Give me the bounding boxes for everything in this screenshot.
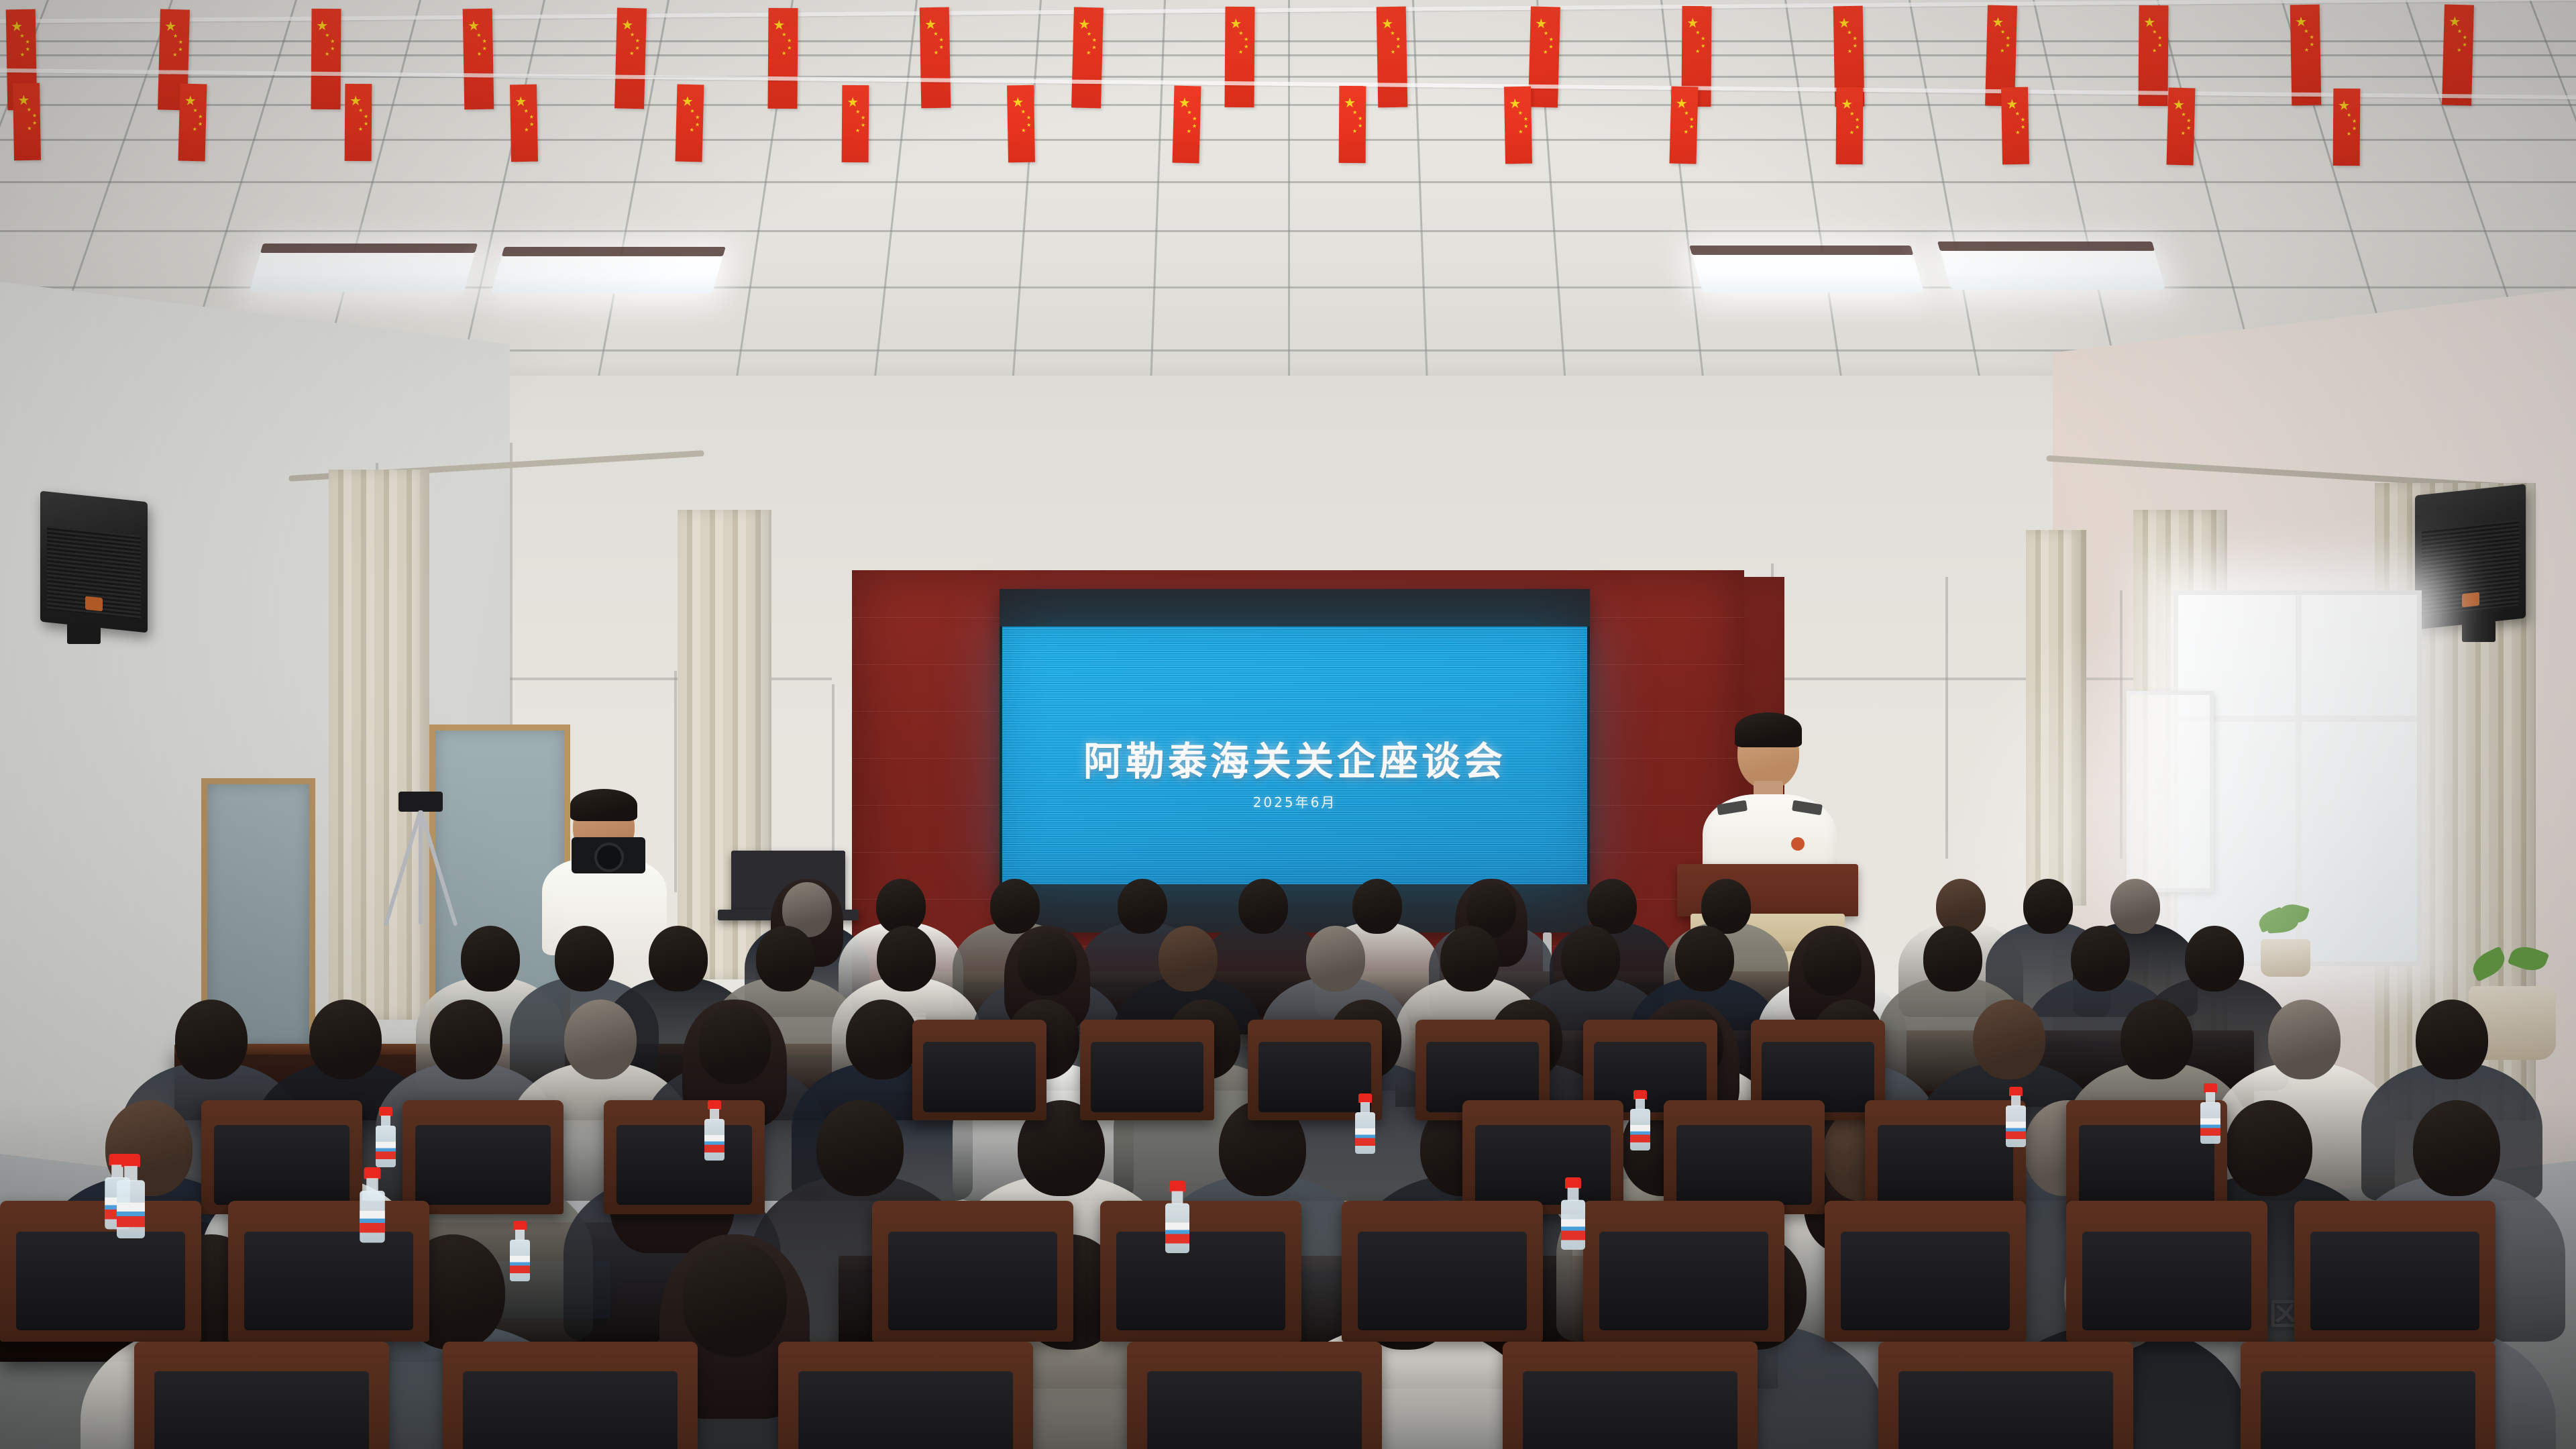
- flag-big-star: ★: [1230, 17, 1242, 31]
- flag-big-star: ★: [773, 19, 785, 32]
- china-flag: ★★★★★: [2001, 87, 2029, 165]
- camera-tripod: [376, 792, 463, 926]
- flag-small-star: ★: [635, 38, 640, 44]
- wall-panel-seam: [1771, 678, 2187, 680]
- flag-small-star: ★: [2352, 119, 2357, 124]
- china-flag: ★★★★★: [1339, 86, 1366, 163]
- flag-big-star: ★: [1179, 96, 1191, 109]
- tripod-leg: [384, 810, 423, 926]
- flag-small-star: ★: [529, 114, 534, 119]
- flag-small-star: ★: [2310, 42, 2314, 48]
- flag-small-star: ★: [178, 47, 182, 52]
- flag-small-star: ★: [1187, 110, 1191, 115]
- flag-small-star: ★: [855, 109, 860, 115]
- flag-small-star: ★: [690, 109, 694, 114]
- flag-small-star: ★: [2463, 35, 2467, 40]
- conference-chair[interactable]: [1503, 1342, 1758, 1449]
- audience-head: [1803, 930, 1862, 996]
- conference-chair[interactable]: [872, 1201, 1073, 1342]
- chair-pad: [2261, 1371, 2475, 1449]
- flag-small-star: ★: [2309, 35, 2314, 40]
- flag-small-star: ★: [1518, 111, 1523, 116]
- bottle-neck: [1635, 1099, 1645, 1110]
- flag-small-star: ★: [630, 32, 635, 38]
- bottle-label: [704, 1135, 724, 1152]
- flag-small-star: ★: [1391, 50, 1395, 55]
- china-flag: ★★★★★: [2290, 5, 2322, 106]
- china-flag: ★★★★★: [1377, 7, 1408, 108]
- china-flag: ★★★★★: [1504, 87, 1532, 164]
- bottle-neck: [1568, 1188, 1579, 1201]
- flag-big-star: ★: [1686, 17, 1699, 30]
- flag-small-star: ★: [1358, 116, 1362, 121]
- flag-small-star: ★: [1395, 37, 1400, 42]
- flag-small-star: ★: [364, 114, 368, 119]
- bottle-cap: [513, 1221, 527, 1230]
- flag-big-star: ★: [1344, 97, 1356, 110]
- chair-pad: [2079, 1125, 2214, 1205]
- chair-pad: [214, 1125, 350, 1205]
- flag-big-star: ★: [1381, 17, 1393, 31]
- chair-pad: [16, 1232, 185, 1330]
- audience-head: [2413, 1100, 2500, 1196]
- flag-small-star: ★: [1549, 37, 1554, 42]
- flag-big-star: ★: [17, 94, 30, 107]
- chair-pad: [415, 1125, 551, 1205]
- flag-big-star: ★: [2449, 15, 2461, 28]
- audience-head: [2225, 1100, 2312, 1196]
- audience-head: [756, 926, 816, 991]
- flag-small-star: ★: [2352, 126, 2357, 131]
- flag-small-star: ★: [330, 46, 335, 52]
- flag-small-star: ★: [2015, 130, 2020, 136]
- flag-small-star: ★: [2186, 118, 2191, 123]
- flag-big-star: ★: [1992, 16, 2004, 30]
- audience-head: [2185, 926, 2245, 991]
- dslr-camera: [572, 832, 645, 880]
- bottle-cap: [1169, 1181, 1185, 1192]
- flag-small-star: ★: [1021, 128, 1026, 133]
- conference-chair[interactable]: [228, 1201, 429, 1342]
- speaker-brand-badge: [85, 596, 103, 611]
- flag-small-star: ★: [2304, 48, 2309, 53]
- flag-big-star: ★: [682, 95, 694, 109]
- flag-small-star: ★: [477, 52, 482, 57]
- flag-small-star: ★: [861, 123, 865, 128]
- bottle-cap: [1633, 1090, 1647, 1099]
- flag-small-star: ★: [2000, 30, 2005, 35]
- audience-head: [309, 1000, 382, 1079]
- flag-small-star: ★: [1855, 117, 1860, 123]
- flag-small-star: ★: [1390, 31, 1395, 36]
- flag-small-star: ★: [2462, 42, 2467, 48]
- flag-small-star: ★: [1238, 31, 1243, 36]
- ceiling-light-panel: [491, 255, 724, 294]
- conference-chair[interactable]: [778, 1342, 1033, 1449]
- flag-small-star: ★: [2152, 30, 2157, 35]
- chair-pad: [1841, 1232, 2010, 1330]
- chair-pad: [1475, 1125, 1611, 1205]
- flag-small-star: ★: [1689, 117, 1694, 123]
- wall-panel-seam: [510, 678, 832, 680]
- audience-head: [2268, 1000, 2341, 1079]
- flag-small-star: ★: [861, 115, 865, 121]
- flag-big-star: ★: [847, 96, 859, 109]
- flag-small-star: ★: [1358, 123, 1362, 129]
- flag-small-star: ★: [1087, 32, 1091, 37]
- flag-small-star: ★: [1689, 125, 1694, 130]
- flag-small-star: ★: [198, 114, 203, 119]
- flag-small-star: ★: [19, 34, 24, 39]
- flag-big-star: ★: [2143, 16, 2155, 30]
- tripod-leg: [419, 810, 458, 926]
- audience-head: [1018, 930, 1077, 996]
- flag-small-star: ★: [358, 127, 363, 132]
- conference-chair[interactable]: [1825, 1201, 2026, 1342]
- flag-small-star: ★: [193, 108, 197, 113]
- flag-small-star: ★: [198, 121, 203, 127]
- conference-chair[interactable]: [134, 1342, 389, 1449]
- flag-small-star: ★: [1847, 30, 1851, 36]
- chair-pad: [2082, 1232, 2251, 1330]
- flag-small-star: ★: [1396, 44, 1401, 50]
- speaker-bracket-right: [2462, 621, 2495, 642]
- flag-big-star: ★: [1841, 98, 1853, 111]
- audience-head: [1561, 926, 1621, 991]
- flag-small-star: ★: [1238, 50, 1243, 55]
- bottle-label: [360, 1211, 385, 1233]
- flag-small-star: ★: [1543, 49, 1548, 54]
- audience-head: [1440, 926, 1500, 991]
- flag-small-star: ★: [2181, 112, 2186, 117]
- conference-chair[interactable]: [201, 1100, 362, 1214]
- flag-small-star: ★: [629, 51, 634, 56]
- flag-small-star: ★: [1852, 36, 1857, 41]
- screen-top-bar: [1000, 589, 1590, 627]
- chair-pad: [1147, 1371, 1361, 1449]
- bottle-neck: [2011, 1095, 2021, 1106]
- wall-speaker-left: [40, 491, 148, 633]
- flag-big-star: ★: [1509, 97, 1521, 111]
- flag-small-star: ★: [2152, 48, 2157, 54]
- flag-small-star: ★: [20, 52, 25, 58]
- wall-speaker-right: [2415, 484, 2526, 629]
- chair-pad: [1116, 1232, 1285, 1330]
- chair-pad: [888, 1232, 1057, 1330]
- china-flag: ★★★★★: [1007, 85, 1035, 163]
- officer-hair: [1735, 712, 1802, 747]
- conference-chair[interactable]: [1080, 1020, 1214, 1120]
- flag-big-star: ★: [2173, 99, 2185, 112]
- bottle-cap: [2009, 1087, 2023, 1096]
- flag-small-star: ★: [2186, 125, 2191, 131]
- flag-small-star: ★: [1695, 30, 1700, 36]
- flag-small-star: ★: [2021, 117, 2025, 123]
- camera-lens: [594, 843, 624, 872]
- chair-pad: [1676, 1125, 1812, 1205]
- flag-small-star: ★: [1701, 44, 1705, 49]
- flag-big-star: ★: [2295, 15, 2307, 29]
- audience-head: [1675, 926, 1735, 991]
- flag-small-star: ★: [635, 46, 639, 51]
- flag-small-star: ★: [695, 122, 700, 127]
- china-flag: ★★★★★: [345, 84, 372, 161]
- audience-head: [682, 1241, 787, 1356]
- flag-small-star: ★: [193, 127, 197, 132]
- flag-small-star: ★: [934, 50, 938, 56]
- flag-big-star: ★: [11, 20, 23, 34]
- chair-pad: [798, 1371, 1012, 1449]
- flag-small-star: ★: [2181, 131, 2186, 136]
- conference-chair[interactable]: [2066, 1201, 2267, 1342]
- bottle-label: [1630, 1125, 1650, 1142]
- bottle-label: [1561, 1219, 1585, 1240]
- tripod-head: [398, 792, 443, 812]
- bottle-label: [1165, 1222, 1189, 1243]
- window-open-sash[interactable]: [2127, 691, 2214, 892]
- bottle-neck: [1172, 1191, 1183, 1204]
- china-flag: ★★★★★: [920, 7, 951, 109]
- flag-small-star: ★: [1523, 124, 1528, 129]
- china-flag: ★★★★★: [13, 83, 41, 161]
- china-flag: ★★★★★: [1224, 7, 1254, 107]
- bottle-neck: [1360, 1102, 1370, 1113]
- flag-small-star: ★: [482, 38, 486, 44]
- flag-small-star: ★: [782, 51, 786, 56]
- bottle-cap: [121, 1154, 140, 1167]
- flag-small-star: ★: [27, 107, 32, 113]
- bottle-cap: [364, 1167, 381, 1179]
- chair-pad: [244, 1232, 413, 1330]
- chair-pad: [1599, 1232, 1768, 1330]
- bottle-neck: [2206, 1092, 2215, 1103]
- china-flag: ★★★★★: [1071, 7, 1104, 108]
- flag-big-star: ★: [621, 19, 633, 32]
- flag-small-star: ★: [782, 32, 786, 38]
- flag-small-star: ★: [1244, 44, 1248, 50]
- chair-pad: [1091, 1042, 1203, 1112]
- chair-pad: [1898, 1371, 2112, 1449]
- conference-chair[interactable]: [604, 1100, 765, 1214]
- flag-small-star: ★: [32, 121, 37, 126]
- chair-pad: [1258, 1042, 1371, 1112]
- chair-pad: [1878, 1125, 2013, 1205]
- photographer-hair: [570, 789, 637, 821]
- flag-small-star: ★: [364, 121, 368, 127]
- flag-small-star: ★: [1026, 123, 1031, 128]
- chair-pad: [154, 1371, 368, 1449]
- conference-chair[interactable]: [2241, 1342, 2495, 1449]
- flag-small-star: ★: [933, 32, 938, 37]
- china-flag: ★★★★★: [1173, 85, 1201, 163]
- flag-small-star: ★: [2157, 43, 2162, 48]
- china-flag: ★★★★★: [311, 9, 341, 109]
- flag-small-star: ★: [855, 128, 860, 133]
- conference-chair[interactable]: [1865, 1100, 2026, 1214]
- flag-small-star: ★: [330, 39, 335, 44]
- flag-small-star: ★: [1849, 111, 1854, 117]
- conference-chair[interactable]: [443, 1342, 698, 1449]
- flag-small-star: ★: [1091, 45, 1096, 50]
- china-flag: ★★★★★: [1670, 87, 1699, 164]
- conference-chair[interactable]: [1342, 1201, 1543, 1342]
- bottle-label: [510, 1256, 530, 1273]
- curtain-right-3: [2026, 530, 2086, 906]
- china-flag: ★★★★★: [2333, 88, 2361, 165]
- china-flag: ★★★★★: [767, 8, 798, 109]
- flag-small-star: ★: [1695, 49, 1700, 54]
- flag-small-star: ★: [1523, 117, 1528, 122]
- flag-big-star: ★: [1078, 17, 1090, 31]
- flag-small-star: ★: [358, 108, 363, 113]
- flag-small-star: ★: [1187, 129, 1191, 134]
- china-flag: ★★★★★: [1836, 87, 1864, 164]
- flag-big-star: ★: [2006, 98, 2018, 111]
- audience-head: [698, 1004, 771, 1084]
- china-flag: ★★★★★: [2442, 4, 2474, 105]
- conference-chair[interactable]: [1878, 1342, 2133, 1449]
- flag-small-star: ★: [2006, 36, 2010, 41]
- flag-big-star: ★: [184, 94, 197, 107]
- flag-small-star: ★: [2457, 29, 2462, 34]
- ceiling-light-panel: [249, 252, 475, 292]
- audience-head: [1973, 1000, 2045, 1079]
- flag-small-star: ★: [25, 47, 30, 52]
- flag-small-star: ★: [1544, 30, 1548, 36]
- china-flag: ★★★★★: [1528, 6, 1560, 107]
- flag-small-star: ★: [476, 33, 481, 38]
- conference-room-photo: 阿勒泰海关关企座谈会 2025年6月: [0, 0, 2576, 1449]
- ceiling-light-panel: [1692, 254, 1925, 292]
- chair-pad: [1358, 1232, 1527, 1330]
- bottle-cap: [708, 1100, 721, 1110]
- flag-small-star: ★: [2021, 125, 2025, 130]
- flag-small-star: ★: [524, 127, 529, 132]
- chair-pad: [1523, 1371, 1737, 1449]
- led-screen: 阿勒泰海关关企座谈会 2025年6月: [1002, 627, 1587, 884]
- audience-head: [2121, 1000, 2193, 1079]
- flag-big-star: ★: [1676, 97, 1688, 111]
- conference-chair[interactable]: [1100, 1201, 1301, 1342]
- flag-small-star: ★: [1849, 130, 1854, 136]
- speaker-bracket-left: [67, 623, 101, 644]
- conference-chair[interactable]: [2294, 1201, 2495, 1342]
- flag-small-star: ★: [2347, 131, 2351, 137]
- audience-head: [564, 1000, 637, 1079]
- chair-pad: [463, 1371, 677, 1449]
- bottle-label: [117, 1203, 145, 1227]
- conference-chair[interactable]: [1127, 1342, 1382, 1449]
- flag-small-star: ★: [2015, 111, 2020, 117]
- china-flag: ★★★★★: [614, 8, 647, 109]
- wall-panel-seam: [2120, 590, 2123, 859]
- flag-big-star: ★: [316, 19, 328, 33]
- flag-small-star: ★: [695, 115, 700, 120]
- flag-small-star: ★: [1853, 43, 1858, 48]
- wall-panel-seam: [1945, 577, 1948, 859]
- flag-small-star: ★: [25, 40, 30, 45]
- conference-chair[interactable]: [402, 1100, 563, 1214]
- flag-small-star: ★: [1244, 37, 1248, 42]
- flag-small-star: ★: [2005, 43, 2010, 48]
- audience-head: [816, 1100, 904, 1196]
- china-flag: ★★★★★: [676, 85, 704, 162]
- audience-head: [2416, 1000, 2488, 1079]
- flag-small-star: ★: [1092, 38, 1097, 43]
- tripod-leg: [419, 810, 423, 924]
- officer-badge: [1791, 837, 1805, 851]
- conference-chair[interactable]: [912, 1020, 1046, 1120]
- flag-small-star: ★: [32, 113, 37, 119]
- china-flag: ★★★★★: [178, 83, 207, 161]
- flag-small-star: ★: [787, 46, 792, 51]
- bottle-neck: [515, 1230, 525, 1240]
- flag-small-star: ★: [482, 46, 487, 51]
- chair-pad: [2310, 1232, 2479, 1330]
- bottle-cap: [379, 1107, 392, 1116]
- flag-small-star: ★: [1352, 129, 1357, 134]
- bottle-cap: [1565, 1177, 1581, 1189]
- flag-small-star: ★: [529, 121, 534, 127]
- flag-small-star: ★: [2000, 48, 2004, 54]
- audience-head: [1306, 926, 1366, 991]
- flag-small-star: ★: [325, 33, 329, 38]
- flag-big-star: ★: [924, 18, 936, 32]
- conference-chair[interactable]: [1664, 1100, 1825, 1214]
- flag-small-star: ★: [1701, 36, 1705, 42]
- flag-big-star: ★: [350, 95, 362, 108]
- bottle-neck: [710, 1109, 719, 1120]
- flag-big-star: ★: [1838, 17, 1850, 30]
- conference-chair[interactable]: [1462, 1100, 1623, 1214]
- flag-small-star: ★: [1518, 129, 1523, 135]
- ceiling-light-panel: [1939, 250, 2165, 290]
- flag-small-star: ★: [2457, 48, 2461, 53]
- bottle-label: [376, 1142, 396, 1159]
- flag-small-star: ★: [172, 52, 177, 57]
- flag-big-star: ★: [2338, 99, 2350, 112]
- flag-small-star: ★: [939, 45, 944, 50]
- conference-chair[interactable]: [1583, 1201, 1784, 1342]
- flag-small-star: ★: [1026, 115, 1031, 121]
- flag-small-star: ★: [1086, 50, 1091, 56]
- flag-small-star: ★: [524, 108, 529, 113]
- flag-small-star: ★: [1847, 49, 1852, 54]
- conference-chair[interactable]: [0, 1201, 201, 1342]
- bottle-neck: [381, 1116, 390, 1126]
- curtain-left: [329, 470, 429, 1020]
- flag-small-star: ★: [1684, 129, 1688, 135]
- slide-title: 阿勒泰海关关企座谈会: [1002, 730, 1587, 786]
- china-flag: ★★★★★: [842, 85, 869, 162]
- audience-head: [1923, 926, 1983, 991]
- audience-head: [649, 926, 708, 991]
- audience-head: [1159, 926, 1218, 991]
- flag-small-star: ★: [787, 38, 792, 44]
- bottle-label: [2200, 1118, 2220, 1136]
- flag-small-star: ★: [27, 126, 32, 131]
- flag-small-star: ★: [1548, 44, 1553, 50]
- speaker-brand-badge: [2462, 592, 2479, 608]
- bottle-cap: [2204, 1083, 2217, 1093]
- bottle-label: [2006, 1122, 2026, 1139]
- wall-panel-seam: [674, 671, 677, 892]
- slide-subtitle: 2025年6月: [1002, 792, 1587, 811]
- flag-small-star: ★: [178, 40, 183, 45]
- flag-small-star: ★: [1352, 110, 1357, 115]
- flag-small-star: ★: [690, 127, 694, 133]
- flag-small-star: ★: [938, 38, 943, 43]
